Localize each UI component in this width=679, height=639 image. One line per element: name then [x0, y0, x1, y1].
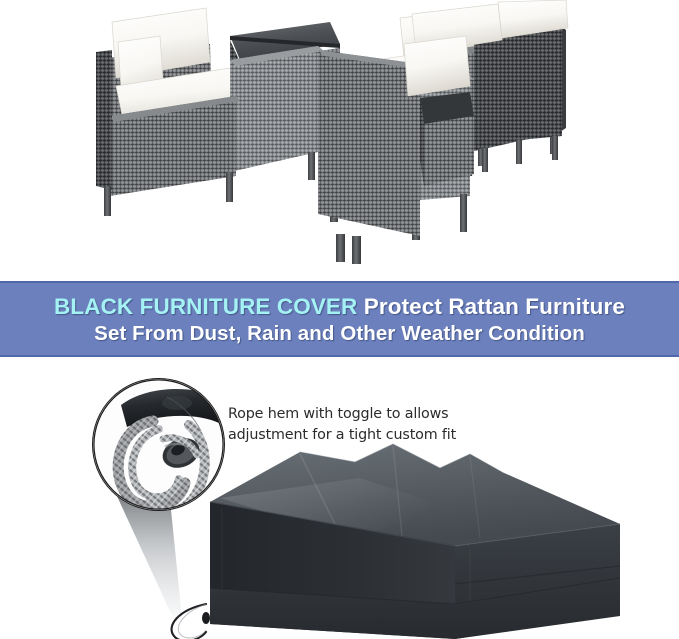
furniture-illustration [0, 0, 679, 272]
rattan-furniture-set [0, 0, 679, 272]
banner-headline-primary: BLACK FURNITURE COVER Protect Rattan Fur… [0, 295, 679, 320]
banner-accent-text: BLACK FURNITURE COVER [54, 294, 357, 319]
callout-text: Rope hem with toggle to allows adjustmen… [228, 404, 492, 446]
banner-primary-rest: Protect Rattan Furniture [357, 294, 625, 319]
banner-headline-secondary: Set From Dust, Rain and Other Weather Co… [0, 323, 679, 346]
black-furniture-cover [150, 438, 650, 639]
corner-drawcord [172, 604, 210, 639]
rope-toggle-detail [92, 378, 225, 511]
product-image-page: BLACK FURNITURE COVER Protect Rattan Fur… [0, 0, 679, 639]
rope-toggle-illustration [93, 379, 224, 510]
storage-ottoman [420, 92, 474, 186]
headline-banner: BLACK FURNITURE COVER Protect Rattan Fur… [0, 281, 679, 357]
